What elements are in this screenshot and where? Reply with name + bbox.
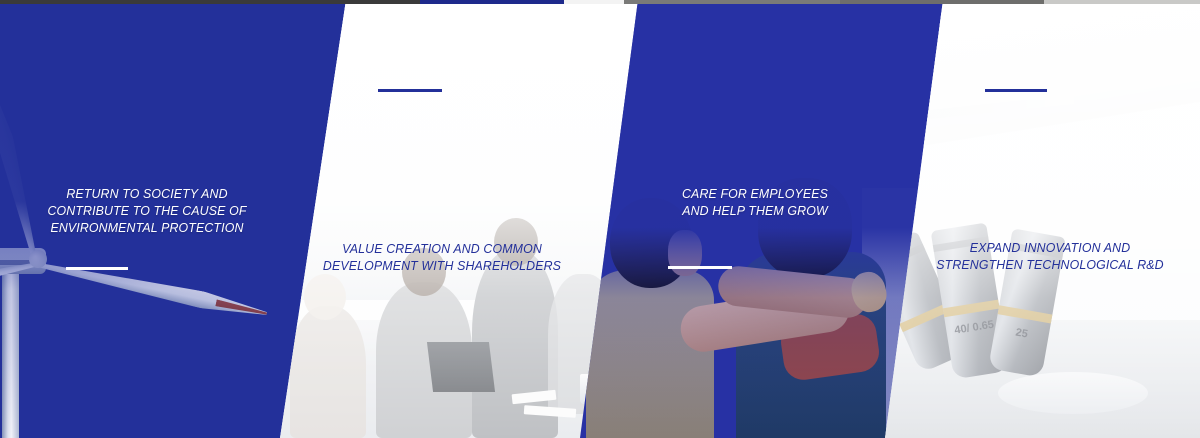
- office-head-b: [402, 248, 446, 296]
- employee-a-face: [668, 230, 702, 276]
- turbine-hub: [29, 250, 47, 268]
- objective-ring-2: [933, 236, 989, 252]
- objective-label-2: 25: [994, 323, 1049, 344]
- petri-dish: [998, 372, 1148, 414]
- laptop-secondary-icon: [427, 342, 495, 392]
- csr-banner: 40/ 0.65 25 RETURN TO SOCIETY AND CONTRI…: [0, 0, 1200, 438]
- office-head-c: [494, 218, 538, 266]
- top-edge-strip: [0, 0, 1200, 4]
- turbine-blade-1: [34, 256, 268, 322]
- office-head-a: [304, 274, 346, 320]
- lab-shelf: [910, 0, 1200, 148]
- wind-turbine-illustration: [0, 0, 310, 438]
- objective-band-3: [998, 305, 1053, 323]
- turbine-blade-3: [0, 88, 44, 267]
- laptop-icon: [350, 332, 432, 386]
- employee-b-head: [758, 178, 852, 278]
- turbine-tower: [2, 262, 19, 438]
- objective-band-2: [943, 300, 1000, 318]
- objective-ring-3: [1009, 242, 1063, 258]
- employee-a-torso: [586, 270, 714, 438]
